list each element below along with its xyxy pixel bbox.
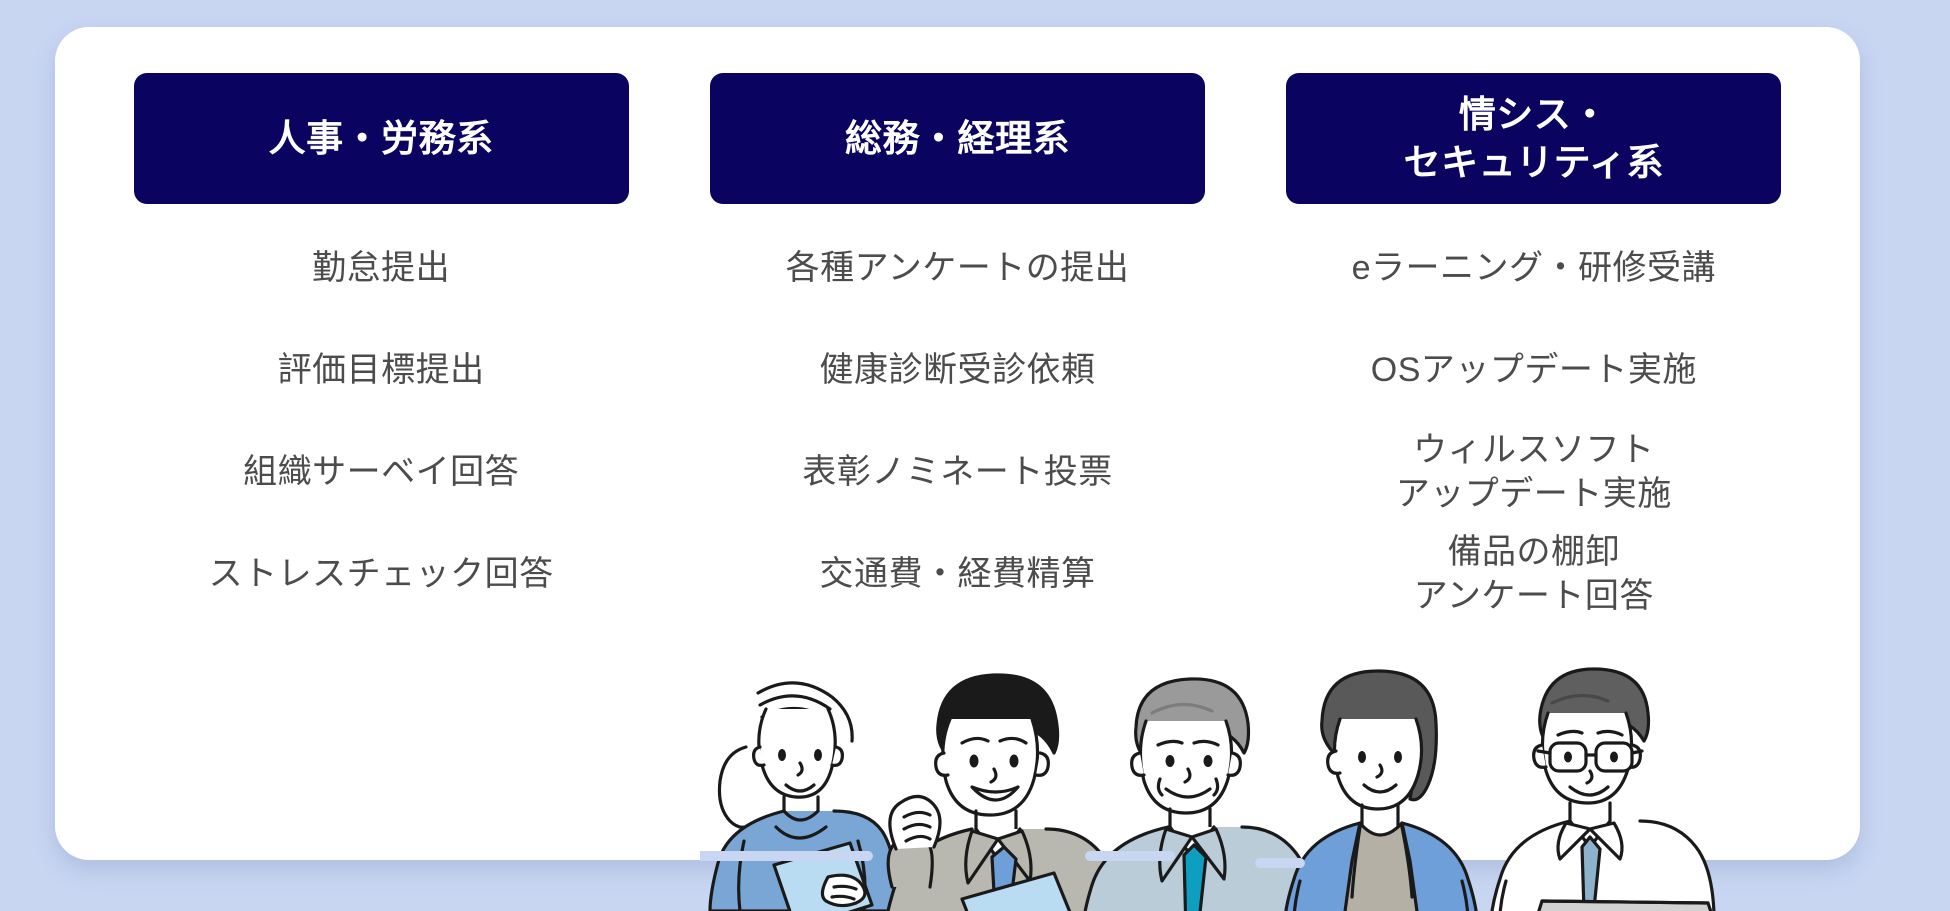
list-item-line: 各種アンケートの提出 bbox=[786, 247, 1130, 291]
list-item-line: 交通費・経費精算 bbox=[819, 553, 1095, 597]
list-item: 各種アンケートの提出 bbox=[786, 218, 1130, 320]
list-item-line: 健康診断受診依頼 bbox=[819, 349, 1095, 393]
column-items-general-affairs: 各種アンケートの提出 健康診断受診依頼 表彰ノミネート投票 交通費・経費精算 bbox=[669, 204, 1245, 626]
column-header-it-security: 情シス・ セキュリティ系 bbox=[1286, 73, 1781, 204]
column-items-hr: 勤怠提出 評価目標提出 組織サーベイ回答 ストレスチェック回答 bbox=[93, 204, 669, 626]
category-column-general-affairs: 総務・経理系 各種アンケートの提出 健康診断受診依頼 表彰ノミネート投票 交通費… bbox=[669, 73, 1245, 860]
list-item: 備品の棚卸 アンケート回答 bbox=[1414, 524, 1654, 626]
list-item: OSアップデート実施 bbox=[1371, 320, 1697, 422]
column-header-line: 人事・労務系 bbox=[269, 115, 494, 162]
category-columns: 人事・労務系 勤怠提出 評価目標提出 組織サーベイ回答 ストレスチェック回答 bbox=[55, 27, 1860, 860]
list-item: ウィルスソフト アップデート実施 bbox=[1396, 422, 1672, 524]
category-column-it-security: 情シス・ セキュリティ系 eラーニング・研修受講 OSアップデート実施 ウィルス… bbox=[1246, 73, 1822, 860]
category-column-hr: 人事・労務系 勤怠提出 評価目標提出 組織サーベイ回答 ストレスチェック回答 bbox=[93, 73, 669, 860]
column-header-general-affairs: 総務・経理系 bbox=[710, 73, 1205, 204]
column-items-it-security: eラーニング・研修受講 OSアップデート実施 ウィルスソフト アップデート実施 … bbox=[1246, 204, 1822, 626]
list-item-line: ストレスチェック回答 bbox=[209, 553, 554, 597]
list-item: 組織サーベイ回答 bbox=[243, 422, 519, 524]
list-item-line: 勤怠提出 bbox=[312, 247, 450, 291]
list-item-line: 評価目標提出 bbox=[278, 349, 485, 393]
column-header-line: 情シス・ bbox=[1404, 91, 1664, 138]
column-header-hr: 人事・労務系 bbox=[134, 73, 629, 204]
list-item-line: 表彰ノミネート投票 bbox=[802, 451, 1113, 495]
list-item: eラーニング・研修受講 bbox=[1352, 218, 1716, 320]
list-item-line: OSアップデート実施 bbox=[1371, 349, 1697, 393]
list-item-line: アップデート実施 bbox=[1396, 473, 1672, 517]
list-item: 交通費・経費精算 bbox=[819, 524, 1095, 626]
list-item: 評価目標提出 bbox=[278, 320, 485, 422]
list-item: 健康診断受診依頼 bbox=[819, 320, 1095, 422]
list-item: ストレスチェック回答 bbox=[209, 524, 554, 626]
list-item-line: eラーニング・研修受講 bbox=[1352, 247, 1716, 291]
list-item: 勤怠提出 bbox=[312, 218, 450, 320]
content-card: 人事・労務系 勤怠提出 評価目標提出 組織サーベイ回答 ストレスチェック回答 bbox=[55, 27, 1860, 860]
list-item-line: アンケート回答 bbox=[1414, 575, 1654, 619]
column-header-line: セキュリティ系 bbox=[1404, 139, 1664, 186]
list-item-line: 備品の棚卸 bbox=[1448, 531, 1621, 575]
list-item-line: 組織サーベイ回答 bbox=[243, 451, 519, 495]
column-header-line: 総務・経理系 bbox=[845, 115, 1070, 162]
list-item-line: ウィルスソフト bbox=[1413, 429, 1655, 473]
list-item: 表彰ノミネート投票 bbox=[802, 422, 1113, 524]
